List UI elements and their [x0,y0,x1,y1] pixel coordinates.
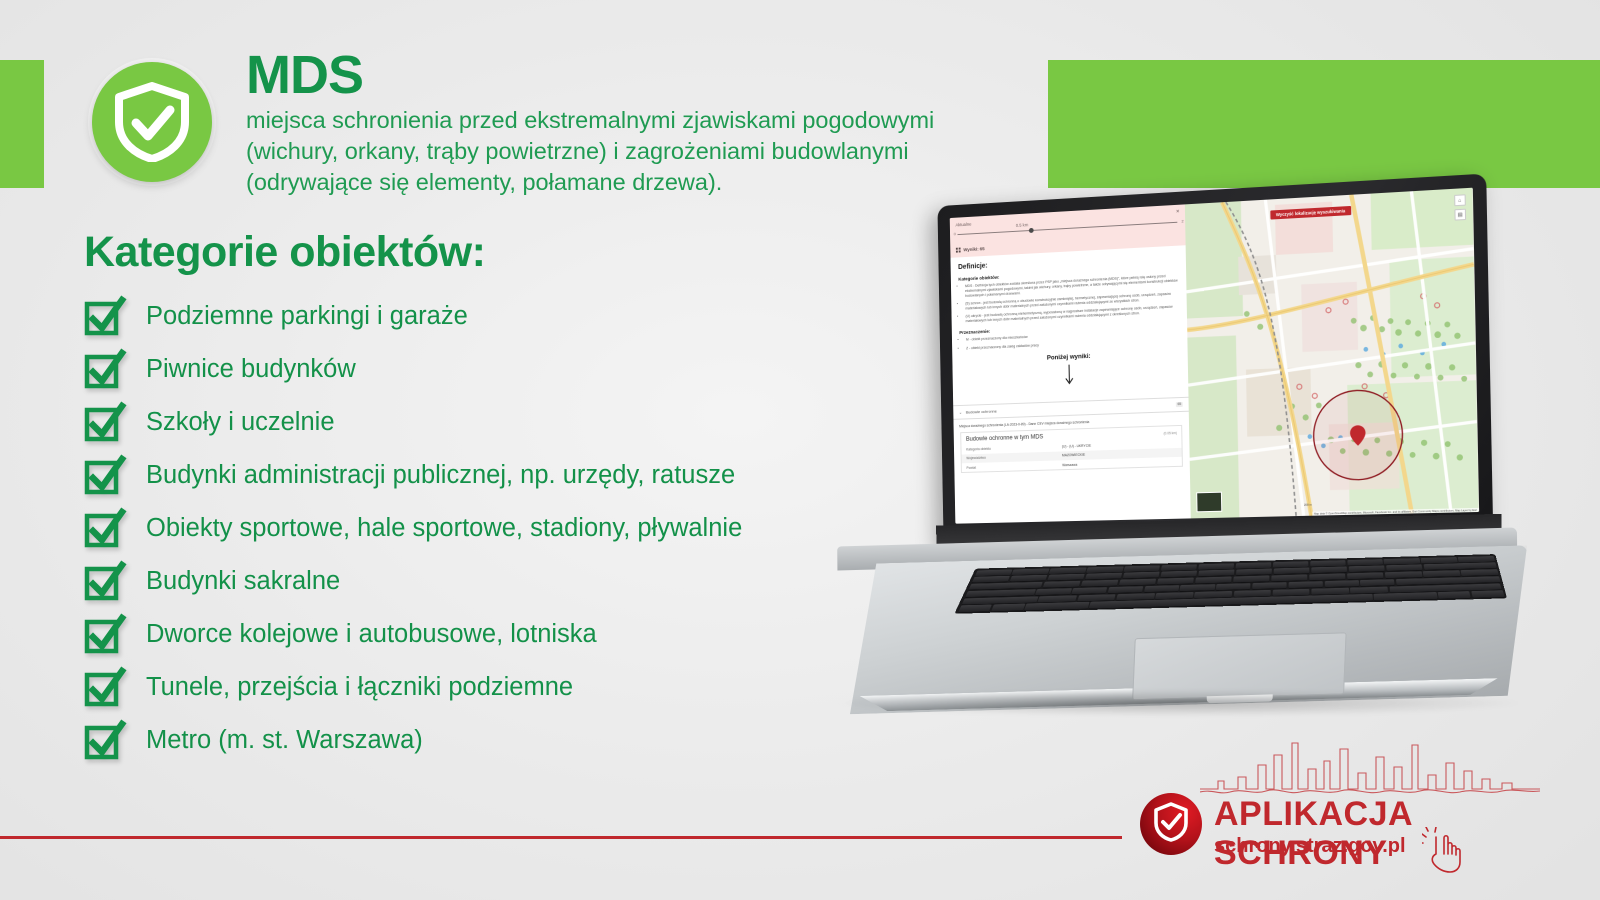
list-item-label: Metro (m. st. Warszawa) [146,726,423,755]
city-skyline-icon [1200,735,1540,797]
header-subtitle-line-2: (wichury, orkany, trąby powietrzne) i za… [246,136,1016,167]
shield-check-icon [1153,802,1189,847]
panel-tab-label[interactable]: Aktualne [955,221,971,227]
header-subtitle: miejsca schronienia przed ekstremalnymi … [246,105,1016,198]
mds-badge [92,62,212,182]
list-item-label: Podziemne parkingi i garaże [146,302,468,331]
definitions-list: MDS - Definicja tych obiektów została ok… [965,274,1180,325]
map-toolbar[interactable]: ⌂ ▤ [1454,195,1466,221]
checkbox-checked-icon [84,668,124,708]
categories-title: Kategorie obiektów: [84,228,485,277]
laptop-lid: Aktualne ✕ 0.5 km 0 2 Wyniki: 65 [937,174,1493,550]
result-card-distance: (0.05 km) [1164,431,1177,435]
arrow-down-icon [1064,364,1073,386]
list-item-label: Budynki sakralne [146,567,340,596]
layers-icon[interactable]: ▤ [1454,209,1466,221]
header-accent-bar-right [1048,60,1600,188]
checkbox-checked-icon [84,562,124,602]
result-card-title: Budowle ochronne w tym MDS [966,434,1043,442]
checkbox-checked-icon [84,721,124,761]
brand-url[interactable]: schrony.straz.gov.pl [1214,835,1406,858]
header-accent-bar-left [0,60,44,188]
checkbox-checked-icon [84,615,124,655]
table-cell-key: Powiat [962,460,1058,472]
footer-divider [0,836,1122,839]
header-text-block: MDS miejsca schronienia przed ekstremaln… [246,48,1016,198]
checkbox-checked-icon [84,403,124,443]
laptop-screen: Aktualne ✕ 0.5 km 0 2 Wyniki: 65 [950,188,1479,524]
header-subtitle-line-1: miejsca schronienia przed ekstremalnymi … [246,105,1016,136]
list-item-label: Szkoły i uczelnie [146,408,335,437]
shield-check-icon [115,82,189,162]
map-minimap[interactable] [1196,491,1222,512]
slider-max-label: 2 [1181,218,1183,223]
laptop-shadow [838,690,1518,716]
list-item-label: Piwnice budynków [146,355,356,384]
grid-icon [956,248,961,253]
list-item-label: Budynki administracji publicznej, np. ur… [146,461,735,490]
checkbox-checked-icon [84,350,124,390]
chevron-down-icon[interactable]: ⌄ [959,409,962,414]
map-scale-label: 200 m [1304,502,1312,506]
checkbox-checked-icon [84,456,124,496]
home-icon[interactable]: ⌂ [1454,195,1466,207]
slider-min-label: 0 [954,231,956,236]
results-count-label: Wyniki: 65 [963,246,984,252]
document-panel: Aktualne ✕ 0.5 km 0 2 Wyniki: 65 [950,204,1191,523]
checkbox-checked-icon [84,509,124,549]
list-item-label: Dworce kolejowe i autobusowe, lotniska [146,620,597,649]
slider-handle[interactable] [1029,228,1034,233]
brand-title: APLIKACJA SCHRONY [1214,795,1560,873]
brand-block[interactable]: APLIKACJA SCHRONY schrony.straz.gov.pl [1140,735,1560,875]
brand-shield-badge [1140,793,1202,855]
map-canvas[interactable] [1185,188,1479,519]
checkbox-checked-icon [84,297,124,337]
accordion-count-badge: 65 [1175,401,1183,406]
hand-click-icon [1422,827,1468,873]
accordion-label: Budowle ochronne [966,408,997,414]
document-body: Definicje: Kategorie obiektów: MDS - Def… [950,245,1188,405]
list-item-label: Obiekty sportowe, hale sportowe, stadion… [146,514,742,543]
map-panel[interactable]: Wyczyść lokalizację wyszukiwania ⌂ ▤ 200… [1185,188,1479,519]
results-heading: Poniżej wyniki: [960,349,1181,365]
result-card[interactable]: Budowle ochronne w tym MDS (0.05 km) Kat… [960,424,1183,473]
laptop-mockup: Aktualne ✕ 0.5 km 0 2 Wyniki: 65 [828,190,1528,750]
list-item-label: Tunele, przejścia i łączniki podziemne [146,673,573,702]
close-icon[interactable]: ✕ [1176,209,1180,215]
slider-value-label: 0.5 km [1016,222,1029,228]
page-title: MDS [246,48,1016,103]
